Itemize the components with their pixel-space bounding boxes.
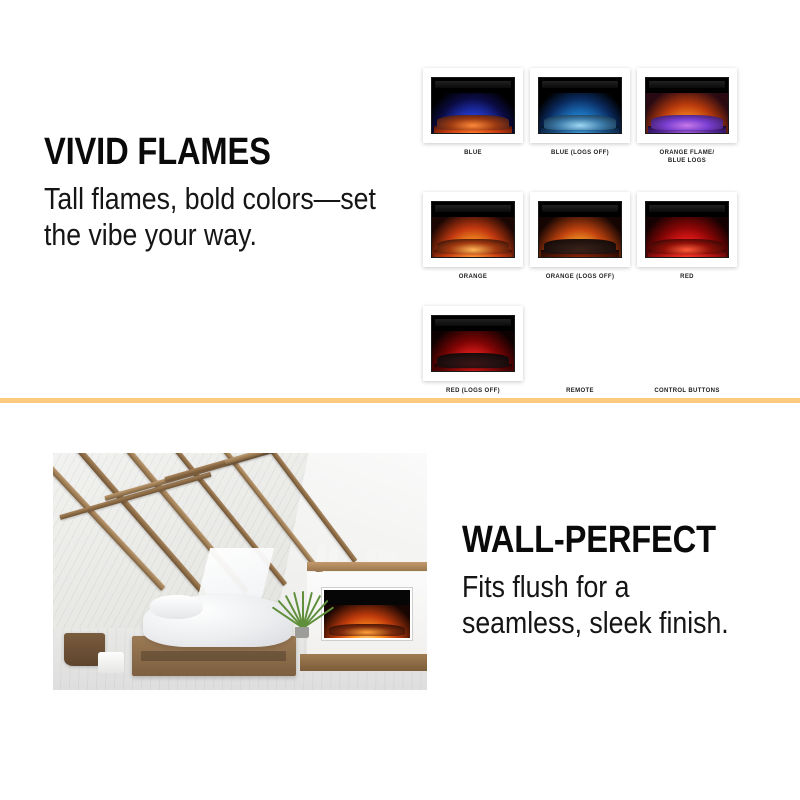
thumbnail-card-placeholder[interactable]: [530, 306, 630, 381]
gallery-item-orange[interactable]: ORANGE: [423, 192, 523, 281]
vivid-flames-subcopy: Tall flames, bold colors—set the vibe yo…: [44, 181, 405, 253]
gallery-item-orange-flame-blue-logs[interactable]: ORANGE FLAME/ BLUE LOGS: [637, 68, 737, 165]
vivid-flames-subcopy-line-1: Tall flames, bold colors—set: [44, 181, 405, 217]
wall-fireplace: [322, 588, 412, 640]
log-set: [544, 115, 616, 129]
thumbnail-label-line-1: ORANGE FLAME/: [660, 149, 715, 157]
gallery-row: RED (LOGS OFF) REMOTE CONTROL BUTTONS: [423, 306, 757, 395]
log-set: [437, 115, 509, 129]
fireplace-thumbnail-image: [538, 77, 622, 134]
fireplace-thumbnail-image: [645, 77, 729, 134]
thumbnail-label: ORANGE: [459, 273, 487, 281]
thumbnail-label: BLUE (LOGS OFF): [551, 149, 609, 157]
thumbnail-label: CONTROL BUTTONS: [654, 387, 719, 395]
log-set: [651, 239, 723, 253]
candle-holders: [98, 652, 124, 673]
wall-perfect-headline: WALL-PERFECT: [462, 520, 746, 560]
wall-perfect-subcopy-line-1: Fits flush for a: [462, 569, 800, 605]
log-set: [651, 115, 723, 129]
wall-perfect-copy-block: WALL-PERFECT Fits flush for a seamless, …: [462, 520, 792, 641]
thumbnail-card[interactable]: [530, 68, 630, 143]
log-set: [437, 239, 509, 253]
fireplace-visor: [542, 205, 617, 212]
candle: [388, 550, 397, 562]
row-spacer: [423, 281, 757, 306]
thumbnail-card[interactable]: [423, 306, 523, 381]
fireplace-thumbnail-image: [431, 315, 515, 372]
row-spacer: [423, 165, 757, 192]
thumbnail-label: RED (LOGS OFF): [446, 387, 500, 395]
vivid-flames-headline: VIVID FLAMES: [44, 132, 354, 172]
thumbnail-card[interactable]: [423, 192, 523, 267]
fireplace-thumbnail-image: [431, 77, 515, 134]
thumbnail-card[interactable]: [530, 192, 630, 267]
thumbnail-label: REMOTE: [566, 387, 594, 395]
candle: [378, 547, 387, 562]
gallery-item-red[interactable]: RED: [637, 192, 737, 281]
thumbnail-label: ORANGE (LOGS OFF): [546, 273, 615, 281]
vivid-flames-subcopy-line-2: the vibe your way.: [44, 217, 405, 253]
fireplace-visor: [435, 205, 510, 212]
fireplace-thumbnail-image: [431, 201, 515, 258]
vase: [317, 545, 326, 562]
gallery-item-orange-logs-off[interactable]: ORANGE (LOGS OFF): [530, 192, 630, 281]
decor-vases: [315, 538, 405, 562]
flame-color-gallery: BLUE BLUE (LOGS OFF): [423, 68, 757, 395]
candle: [367, 549, 376, 562]
gallery-row: BLUE BLUE (LOGS OFF): [423, 68, 757, 165]
gallery-item-control-buttons[interactable]: CONTROL BUTTONS: [637, 306, 737, 395]
fireplace-visor: [649, 205, 724, 212]
log-set: [437, 353, 509, 367]
vivid-flames-copy-block: VIVID FLAMES Tall flames, bold colors—se…: [44, 132, 404, 253]
wall-perfect-subcopy-line-2: seamless, sleek finish.: [462, 605, 800, 641]
thumbnail-card[interactable]: [423, 68, 523, 143]
fireplace-visor: [435, 319, 510, 326]
wall-perfect-subcopy: Fits flush for a seamless, sleek finish.: [462, 569, 800, 641]
wall-perfect-section: WALL-PERFECT Fits flush for a seamless, …: [0, 403, 800, 800]
plant-pot: [295, 627, 309, 638]
thumbnail-card-placeholder[interactable]: [637, 306, 737, 381]
fireplace-visor: [649, 81, 724, 88]
thumbnail-label-line-2: BLUE LOGS: [660, 157, 715, 165]
fireplace-thumbnail-image: [645, 201, 729, 258]
thumbnail-card[interactable]: [637, 68, 737, 143]
room-scene: [53, 453, 427, 690]
thumbnail-card[interactable]: [637, 192, 737, 267]
pillow: [150, 595, 202, 619]
vivid-flames-section: VIVID FLAMES Tall flames, bold colors—se…: [0, 0, 800, 398]
thumbnail-label: BLUE: [464, 149, 482, 157]
fireplace-visor: [542, 81, 617, 88]
thumbnail-label: RED: [680, 273, 694, 281]
fireplace-hearth-ledge: [300, 654, 427, 671]
vase: [329, 548, 338, 562]
gallery-item-blue[interactable]: BLUE: [423, 68, 523, 165]
gallery-row: ORANGE ORANGE (LOGS OFF): [423, 192, 757, 281]
fireplace-visor: [435, 81, 510, 88]
gallery-item-remote[interactable]: REMOTE: [530, 306, 630, 395]
attic-bedroom-photo: [53, 453, 427, 690]
firebox-logs: [329, 624, 404, 637]
fireplace-thumbnail-image: [538, 201, 622, 258]
gallery-item-blue-logs-off[interactable]: BLUE (LOGS OFF): [530, 68, 630, 165]
potted-plant: [270, 567, 334, 629]
log-set: [544, 239, 616, 253]
thumbnail-label: ORANGE FLAME/ BLUE LOGS: [660, 149, 715, 165]
gallery-item-red-logs-off[interactable]: RED (LOGS OFF): [423, 306, 523, 395]
